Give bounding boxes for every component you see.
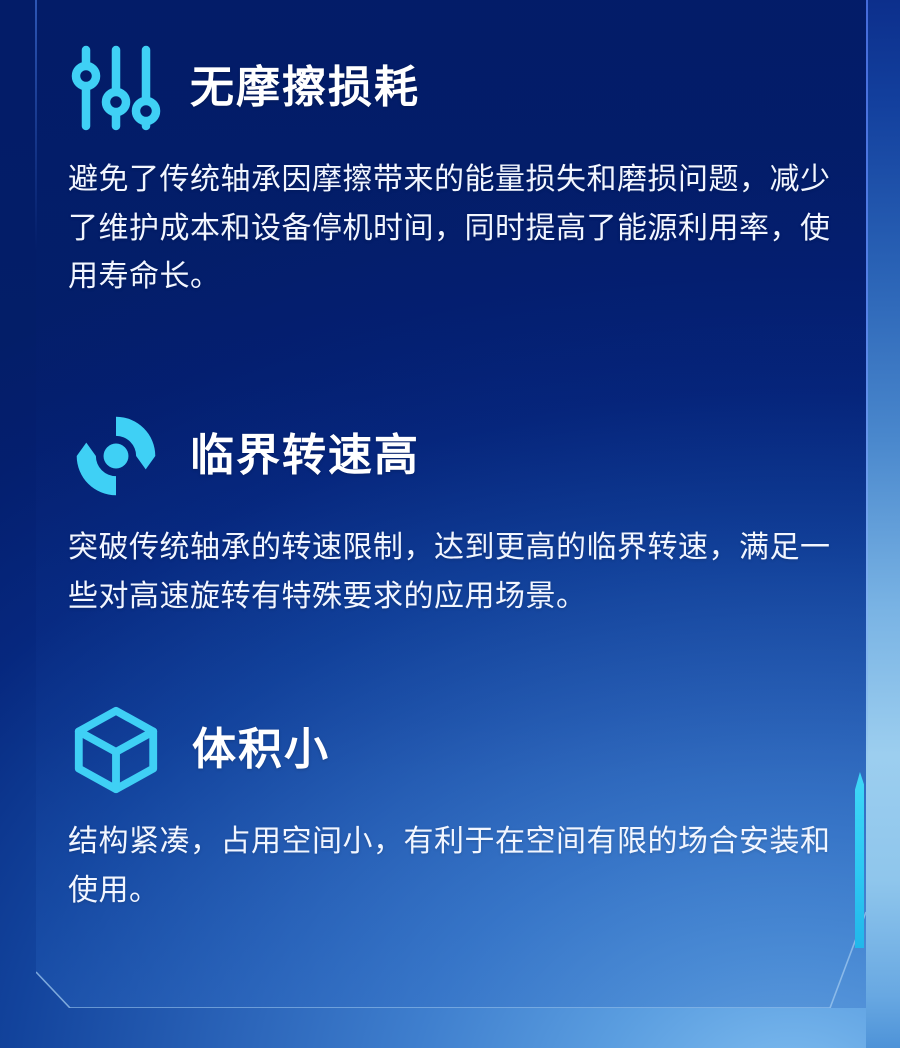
features-container: 无摩擦损耗 避免了传统轴承因摩擦带来的能量损失和磨损问题，减少了维护成本和设备停… [0,0,900,1048]
feature-title: 无摩擦损耗 [190,66,420,110]
feature-header: 体积小 [68,700,858,800]
feature-header: 无摩擦损耗 [68,38,858,138]
feature-item: 临界转速高 突破传统轴承的转速限制，达到更高的临界转速，满足一些对高速旋转有特殊… [68,406,858,651]
feature-description: 突破传统轴承的转速限制，达到更高的临界转速，满足一些对高速旋转有特殊要求的应用场… [68,524,850,621]
feature-header: 临界转速高 [68,406,858,506]
feature-title: 体积小 [192,728,330,772]
feature-item: 无摩擦损耗 避免了传统轴承因摩擦带来的能量损失和磨损问题，减少了维护成本和设备停… [68,38,858,332]
sliders-icon [68,40,164,136]
cube-icon [68,702,164,798]
feature-description: 结构紧凑，占用空间小，有利于在空间有限的场合安装和使用。 [68,818,850,915]
rotation-speed-icon [68,408,164,504]
feature-description: 避免了传统轴承因摩擦带来的能量损失和磨损问题，减少了维护成本和设备停机时间，同时… [68,156,850,302]
feature-list-page: 无摩擦损耗 避免了传统轴承因摩擦带来的能量损失和磨损问题，减少了维护成本和设备停… [0,0,900,1048]
feature-title: 临界转速高 [190,434,420,478]
feature-item: 体积小 结构紧凑，占用空间小，有利于在空间有限的场合安装和使用。 [68,700,858,945]
